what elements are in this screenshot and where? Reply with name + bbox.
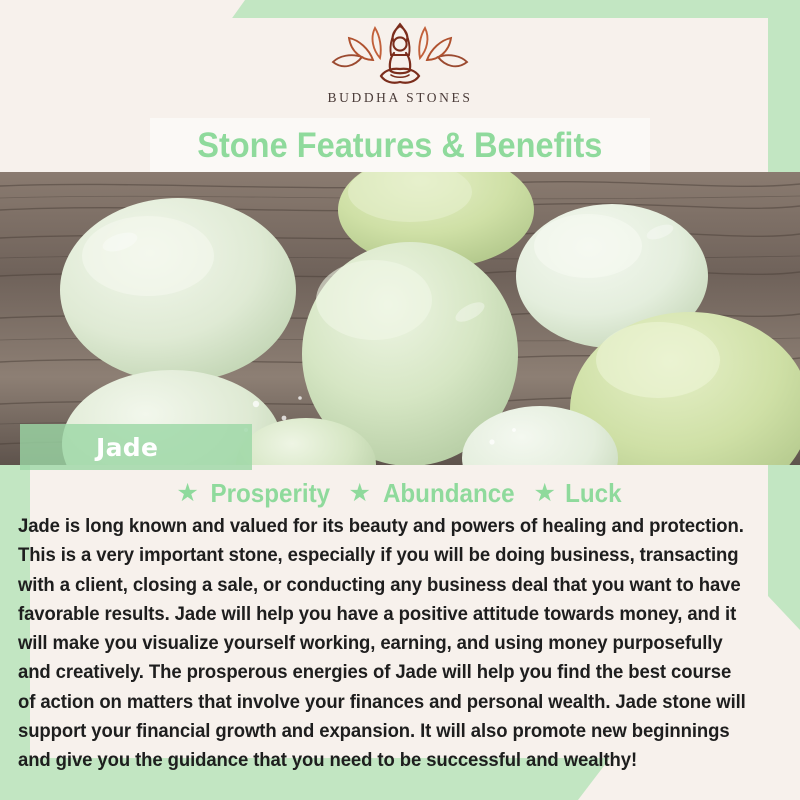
keyword-label: Abundance (383, 480, 515, 506)
header: BUDDHA STONES (32, 18, 768, 118)
keyword-item-prosperity: ★ Prosperity (176, 480, 334, 506)
star-icon: ★ (533, 481, 555, 506)
keyword-item-abundance: ★ Abundance (348, 480, 519, 506)
poster-canvas: BUDDHA STONES Stone Features & Benefits (0, 0, 800, 800)
star-icon: ★ (348, 481, 370, 506)
page-title: Stone Features & Benefits (197, 128, 602, 163)
description-text: Jade is long known and valued for its be… (18, 512, 750, 776)
keyword-item-luck: ★ Luck (533, 480, 623, 506)
brand-name: BUDDHA STONES (328, 90, 473, 106)
keyword-list: ★ Prosperity ★ Abundance ★ Luck (0, 476, 800, 510)
lotus-meditation-icon (325, 22, 475, 88)
title-band: Stone Features & Benefits (150, 118, 650, 172)
stone-name-band: Jade (20, 424, 252, 470)
description-panel: Jade is long known and valued for its be… (18, 512, 784, 780)
stone-name-label: Jade (96, 433, 158, 462)
product-photo (0, 172, 800, 465)
keyword-label: Prosperity (210, 480, 330, 506)
star-icon: ★ (176, 481, 198, 506)
keyword-label: Luck (565, 480, 621, 506)
